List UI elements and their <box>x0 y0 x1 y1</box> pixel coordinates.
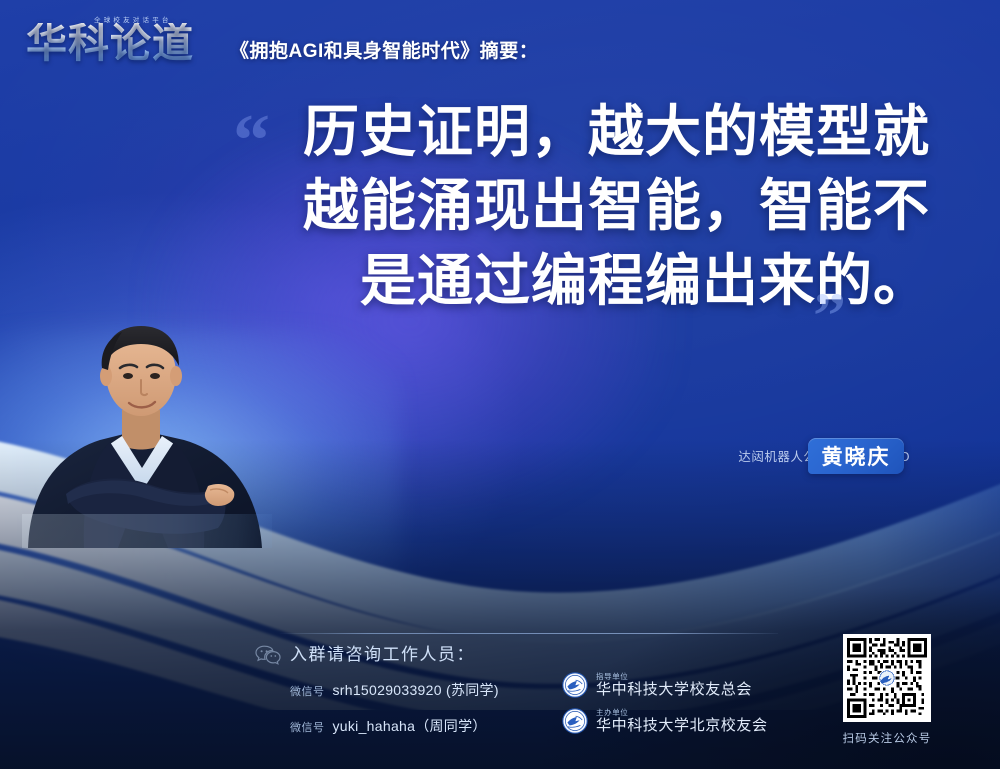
contact-value: yuki_hahaha（周同学） <box>333 716 487 736</box>
quote-line-2: 越能涌现出智能，智能不 <box>225 170 930 244</box>
organization-row: 指导单位 华中科技大学校友总会 <box>562 672 752 698</box>
logo-wordmark: 华科论道 <box>26 23 194 64</box>
contact-label: 微信号 <box>290 683 325 699</box>
quote-block: “ 历史证明，越大的模型就 越能涌现出智能，智能不 是通过编程编出来的。 ” <box>225 96 965 319</box>
speaker-portrait <box>22 318 272 568</box>
qr-code[interactable] <box>843 634 931 722</box>
organization-row: 主办单位 华中科技大学北京校友会 <box>562 708 768 734</box>
organization-name: 华中科技大学北京校友会 <box>596 718 768 734</box>
footer-heading: 入群请咨询工作人员： <box>290 640 475 665</box>
contact-value: srh15029033920 (苏同学) <box>333 680 499 700</box>
speaker-name: 黄晓庆 <box>822 441 891 471</box>
organization-text: 指导单位 华中科技大学校友总会 <box>596 673 752 698</box>
brand-logo[interactable]: 全球校友对话平台 华科论道 <box>26 14 216 72</box>
speaker-name-badge: 黄晓庆 <box>808 438 904 474</box>
university-seal-icon <box>562 708 588 734</box>
page-title: 《拥抱AGI和具身智能时代》摘要： <box>230 36 538 72</box>
contact-label: 微信号 <box>290 719 325 735</box>
poster-canvas: 全球校友对话平台 华科论道 《拥抱AGI和具身智能时代》摘要： “ 历史证明，越… <box>0 0 1000 769</box>
header: 全球校友对话平台 华科论道 《拥抱AGI和具身智能时代》摘要： <box>26 14 538 72</box>
contact-row[interactable]: 微信号 srh15029033920 (苏同学) <box>290 680 499 700</box>
quote-close-mark: ” <box>813 284 842 350</box>
organization-text: 主办单位 华中科技大学北京校友会 <box>596 709 768 734</box>
contact-row[interactable]: 微信号 yuki_hahaha（周同学） <box>290 716 487 736</box>
university-seal-icon <box>562 672 588 698</box>
wechat-icon <box>255 645 281 665</box>
organization-name: 华中科技大学校友总会 <box>596 682 752 698</box>
footer-divider <box>278 633 778 634</box>
quote-line-1: 历史证明，越大的模型就 <box>225 96 930 170</box>
qr-caption: 扫码关注公众号 <box>828 730 946 746</box>
